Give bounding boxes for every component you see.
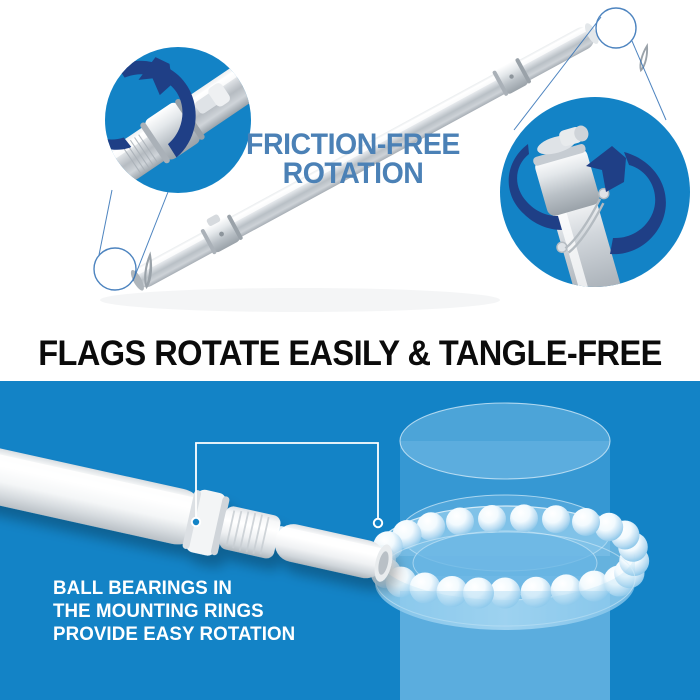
bottom-panel-artwork xyxy=(0,381,700,700)
caption-line3: PROVIDE EASY ROTATION xyxy=(53,623,295,646)
ball-bearings-caption: BALL BEARINGS IN THE MOUNTING RINGS PROV… xyxy=(53,577,295,645)
pole-zoom-marker-lower xyxy=(94,248,136,290)
pole-ridged-section xyxy=(218,505,282,560)
top-headline: FLAGS ROTATE EASILY & TANGLE-FREE xyxy=(25,330,676,378)
top-panel: FRICTION-FREE ROTATION FLAGS ROTATE EASI… xyxy=(0,0,700,381)
friction-free-line2: ROTATION xyxy=(234,160,472,189)
bearing-cylinder-assembly xyxy=(366,403,649,700)
pole-zoom-marker-upper xyxy=(596,8,636,48)
friction-free-label: FRICTION-FREE ROTATION xyxy=(234,131,472,188)
infographic-root: FRICTION-FREE ROTATION FLAGS ROTATE EASI… xyxy=(0,0,700,700)
flag-clip-upper xyxy=(639,45,649,70)
caption-line2: THE MOUNTING RINGS xyxy=(53,600,295,623)
bottom-panel: BALL BEARINGS IN THE MOUNTING RINGS PROV… xyxy=(0,381,700,700)
leader-endpoint-pole xyxy=(192,518,200,526)
caption-line1: BALL BEARINGS IN xyxy=(53,577,295,600)
magnifier-right xyxy=(500,97,690,330)
leader-endpoint-ring xyxy=(374,519,382,527)
white-flagpole xyxy=(0,437,398,595)
